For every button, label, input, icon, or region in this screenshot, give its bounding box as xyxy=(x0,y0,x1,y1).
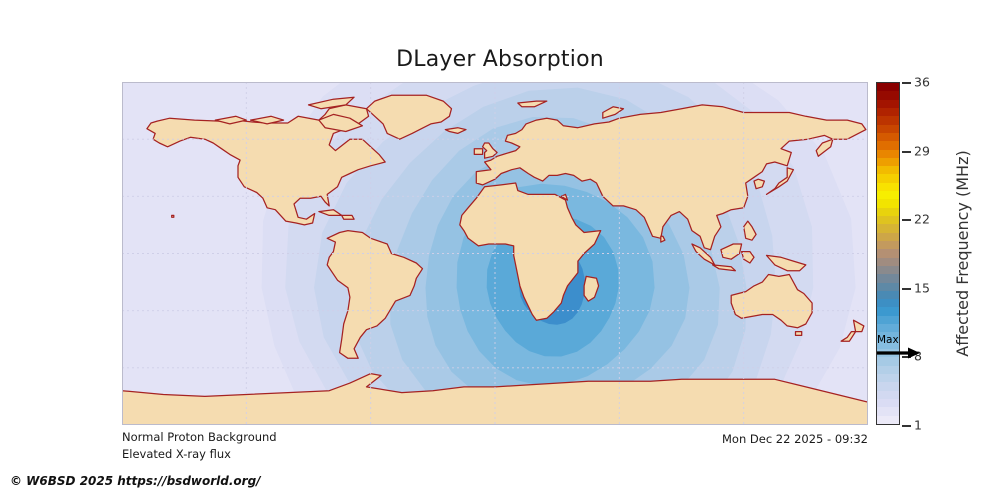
colorbar-band xyxy=(877,374,899,382)
colorbar-band xyxy=(877,100,899,108)
colorbar-tick-label: 22 xyxy=(914,212,930,227)
colorbar-band xyxy=(877,224,899,232)
colorbar-gradient xyxy=(876,82,900,425)
colorbar-band xyxy=(877,166,899,174)
plot-figure: DLayer Absorption 1815222936 Max xyxy=(0,0,1000,500)
colorbar-band xyxy=(877,191,899,199)
colorbar-band xyxy=(877,233,899,241)
colorbar-band xyxy=(877,116,899,124)
colorbar-tick xyxy=(902,425,911,427)
colorbar-band xyxy=(877,183,899,191)
landmass-hawaii xyxy=(172,215,174,217)
colorbar-band xyxy=(877,241,899,249)
colorbar-tick-label: 1 xyxy=(914,418,922,433)
colorbar-tick-label: 29 xyxy=(914,143,930,158)
colorbar-band xyxy=(877,150,899,158)
colorbar-band xyxy=(877,399,899,407)
colorbar-band xyxy=(877,133,899,141)
colorbar-band xyxy=(877,416,899,424)
timestamp: Mon Dec 22 2025 - 09:32 xyxy=(722,432,868,446)
colorbar-tick xyxy=(902,82,911,84)
xray-flux-status: Elevated X-ray flux xyxy=(122,447,231,461)
colorbar-band xyxy=(877,108,899,116)
landmass-hispaniola xyxy=(342,215,354,219)
colorbar-band xyxy=(877,141,899,149)
colorbar-band xyxy=(877,125,899,133)
colorbar-band xyxy=(877,274,899,282)
colorbar-band xyxy=(877,199,899,207)
colorbar-band xyxy=(877,158,899,166)
colorbar-band xyxy=(877,407,899,415)
colorbar-band xyxy=(877,366,899,374)
colorbar-tick-label: 15 xyxy=(914,280,930,295)
colorbar-band xyxy=(877,324,899,332)
landmass-tasmania xyxy=(796,332,802,336)
colorbar-band xyxy=(877,83,899,91)
colorbar[interactable]: 1815222936 xyxy=(876,82,900,425)
landmass-ireland xyxy=(474,149,482,155)
credit-line: © W6BSD 2025 https://bsdworld.org/ xyxy=(10,474,261,488)
colorbar-band xyxy=(877,382,899,390)
page-title: DLayer Absorption xyxy=(0,47,1000,72)
colorbar-band xyxy=(877,291,899,299)
world-map xyxy=(122,82,868,425)
colorbar-band xyxy=(877,316,899,324)
colorbar-band xyxy=(877,299,899,307)
colorbar-tick xyxy=(902,219,911,221)
colorbar-axis-title: Affected Frequency (MHz) xyxy=(951,82,975,425)
arrow-right-icon xyxy=(876,346,926,360)
colorbar-band xyxy=(877,208,899,216)
max-label: Max xyxy=(877,334,899,346)
colorbar-band xyxy=(877,266,899,274)
colorbar-band xyxy=(877,391,899,399)
colorbar-band xyxy=(877,174,899,182)
colorbar-band xyxy=(877,283,899,291)
proton-background-status: Normal Proton Background xyxy=(122,430,277,444)
colorbar-band xyxy=(877,216,899,224)
colorbar-tick xyxy=(902,151,911,153)
colorbar-band xyxy=(877,258,899,266)
colorbar-band xyxy=(877,91,899,99)
colorbar-max-marker: Max xyxy=(876,335,946,361)
colorbar-tick xyxy=(902,288,911,290)
colorbar-band xyxy=(877,307,899,315)
colorbar-tick-label: 36 xyxy=(914,75,930,90)
world-map-panel xyxy=(122,82,868,425)
colorbar-band xyxy=(877,249,899,257)
